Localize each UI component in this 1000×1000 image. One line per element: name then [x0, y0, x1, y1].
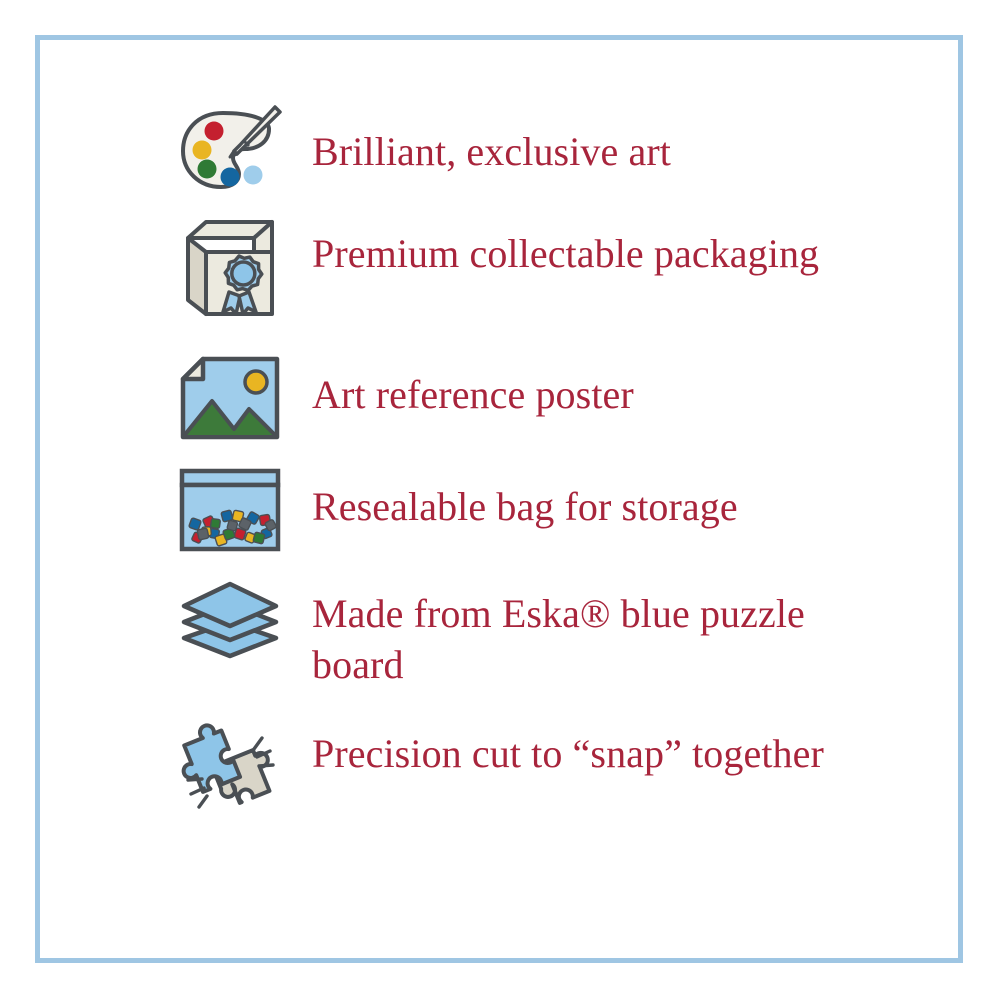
snapping-puzzle-pieces-icon [170, 706, 290, 852]
list-item-label: Precision cut to “snap” together [290, 706, 870, 779]
premium-box-icon [170, 210, 290, 348]
resealable-bag-icon [170, 454, 290, 566]
list-item-label: Brilliant, exclusive art [290, 92, 870, 177]
paint-palette-icon [170, 92, 290, 210]
feature-list: Brilliant, exclusive art [170, 92, 870, 846]
stacked-board-layers-icon [170, 566, 290, 716]
list-item: Precision cut to “snap” together [170, 706, 870, 846]
list-item: Brilliant, exclusive art [170, 92, 870, 210]
list-item: Resealable bag for storage [170, 454, 870, 566]
list-item-label: Made from Eska® blue puzzle board [290, 566, 870, 690]
poster-image-icon [170, 342, 290, 454]
list-item: Premium collectable packaging [170, 210, 870, 342]
list-item-label: Premium collectable packaging [290, 210, 870, 279]
list-item-label: Resealable bag for storage [290, 454, 870, 532]
feature-infographic-page: Brilliant, exclusive art [0, 0, 1000, 1000]
list-item-label: Art reference poster [290, 342, 870, 420]
list-item: Art reference poster [170, 342, 870, 454]
list-item: Made from Eska® blue puzzle board [170, 566, 870, 706]
